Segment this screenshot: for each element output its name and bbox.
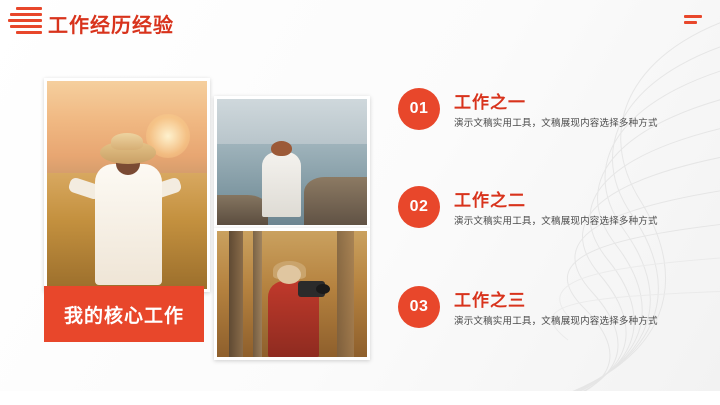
list-item[interactable]: 02 工作之二 演示文稿实用工具，文稿展现内容选择多种方式 (398, 186, 698, 244)
core-work-banner: 我的核心工作 (44, 286, 204, 342)
page-title: 工作经历经验 (48, 9, 174, 38)
item-number-badge: 01 (398, 88, 440, 130)
item-description: 演示文稿实用工具，文稿展现内容选择多种方式 (454, 115, 658, 129)
item-title: 工作之一 (454, 88, 526, 113)
item-number-badge: 02 (398, 186, 440, 228)
slide-header: 工作经历经验 (0, 0, 720, 48)
list-item[interactable]: 03 工作之三 演示文稿实用工具，文稿展现内容选择多种方式 (398, 286, 698, 344)
photo-woman-in-wheat-field (44, 78, 210, 292)
core-work-banner-label: 我的核心工作 (64, 301, 184, 328)
slide-canvas: 工作经历经验 (0, 0, 720, 405)
photo-woman-by-the-sea (214, 96, 370, 228)
item-description: 演示文稿实用工具，文稿展现内容选择多种方式 (454, 313, 658, 327)
list-item[interactable]: 01 工作之一 演示文稿实用工具，文稿展现内容选择多种方式 (398, 88, 698, 146)
item-title: 工作之三 (454, 286, 526, 311)
striped-bars-logo-icon (8, 7, 42, 39)
item-description: 演示文稿实用工具，文稿展现内容选择多种方式 (454, 213, 658, 227)
item-number-badge: 03 (398, 286, 440, 328)
item-title: 工作之二 (454, 186, 526, 211)
hamburger-menu-icon[interactable] (684, 15, 702, 27)
bottom-margin-bar (0, 391, 720, 405)
photo-photographer-in-forest (214, 228, 370, 360)
